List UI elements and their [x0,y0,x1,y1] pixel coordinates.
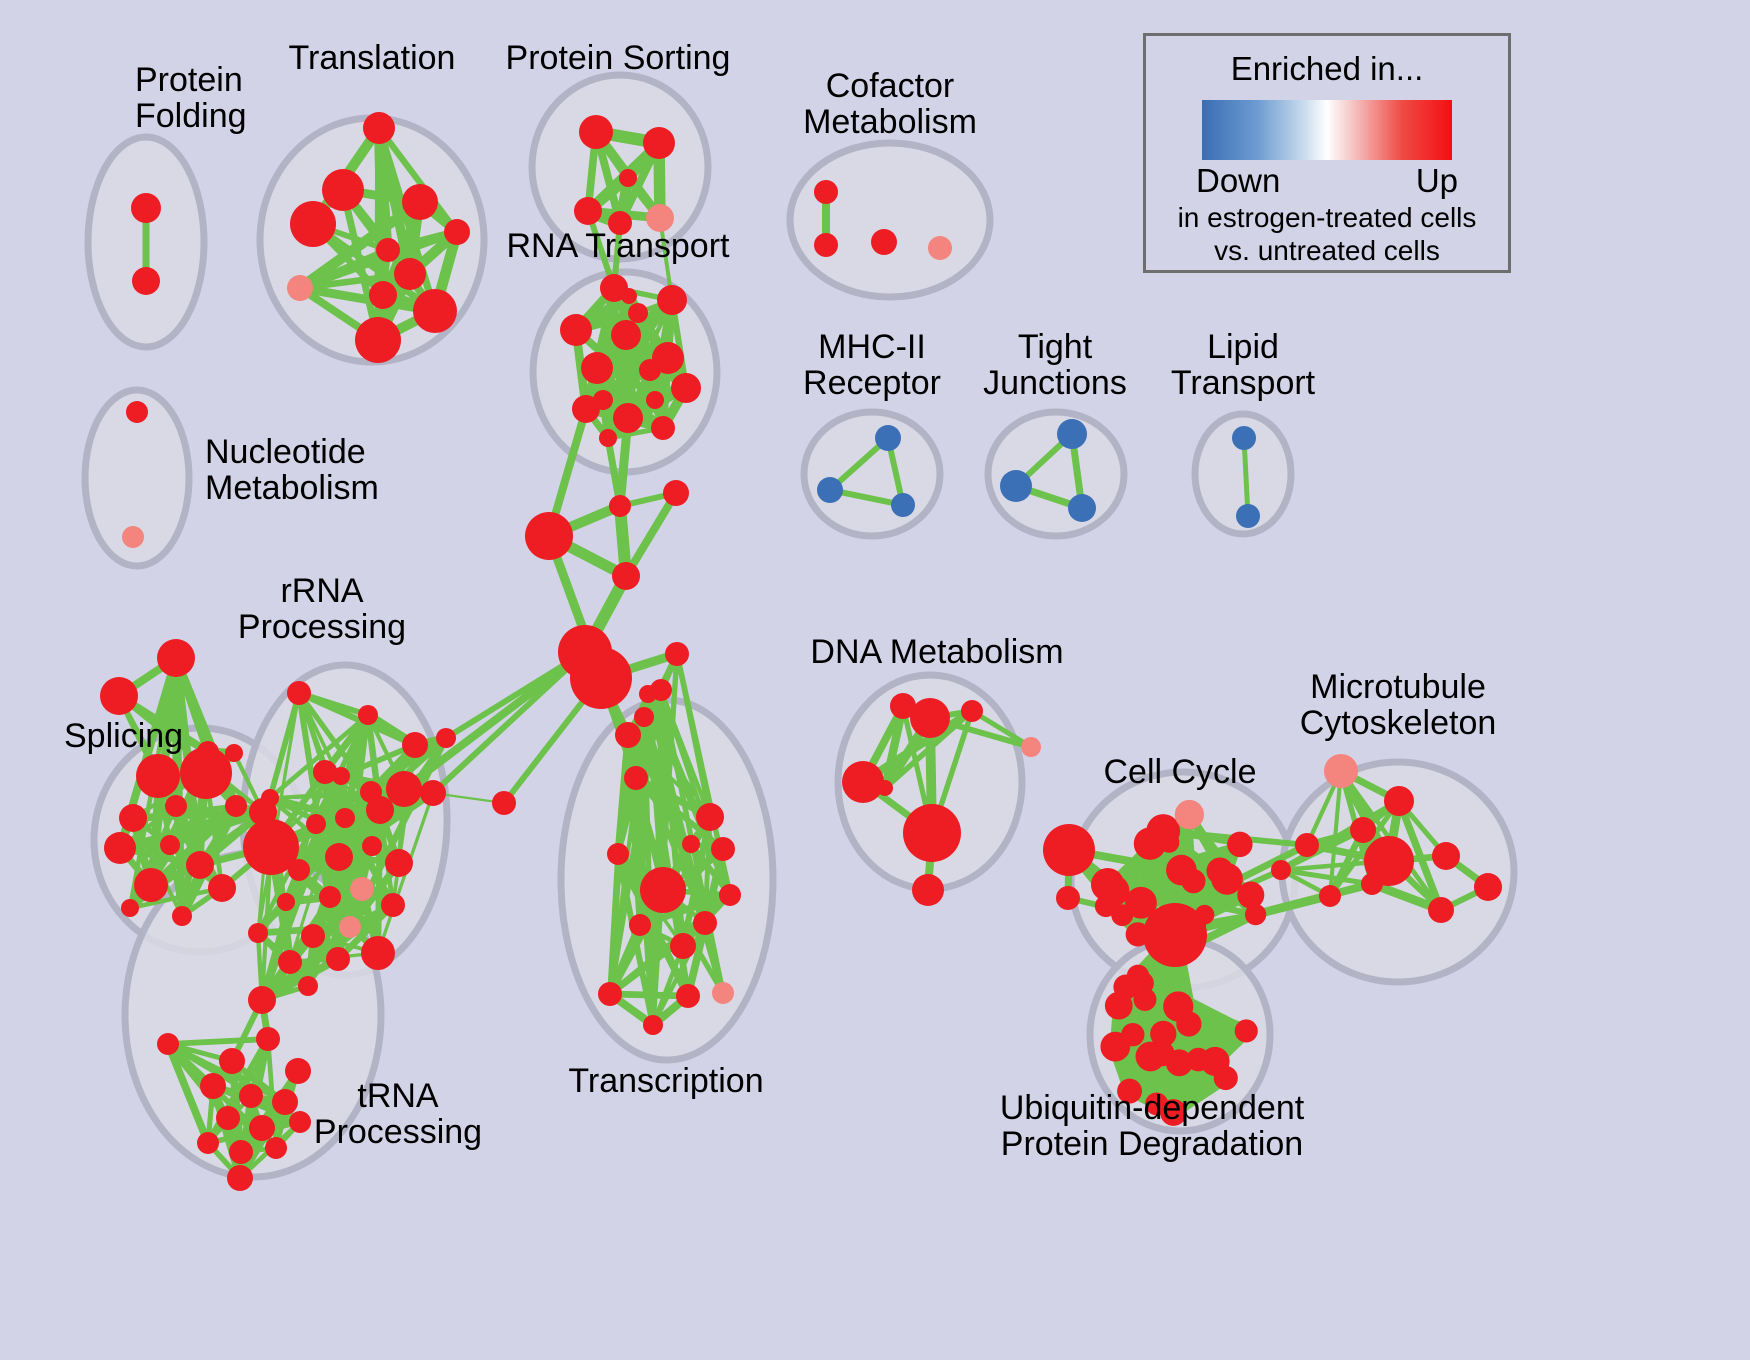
network-node[interactable] [306,814,326,834]
network-node[interactable] [1428,897,1454,923]
cluster-label-protein-folding: Protein Folding [135,62,247,134]
network-node[interactable] [1166,1049,1193,1076]
network-node[interactable] [1043,824,1095,876]
network-node[interactable] [639,685,657,703]
network-node[interactable] [402,184,438,220]
network-edge [433,652,585,793]
network-node[interactable] [265,1137,287,1159]
network-node[interactable] [362,836,382,856]
network-node[interactable] [376,238,400,262]
network-node[interactable] [1324,754,1358,788]
network-node[interactable] [1232,426,1256,450]
network-node[interactable] [912,874,944,906]
network-node[interactable] [261,789,279,807]
network-node[interactable] [607,843,629,865]
network-node[interactable] [131,193,161,223]
network-node[interactable] [1236,504,1260,528]
cluster-label-rrna-processing: rRNA Processing [238,573,406,645]
network-node[interactable] [619,169,637,187]
network-node[interactable] [814,233,838,257]
network-node[interactable] [132,267,160,295]
network-node[interactable] [612,562,640,590]
cluster-label-mhc-ii-receptor: MHC-II Receptor [803,329,941,401]
network-node[interactable] [574,197,602,225]
network-figure: Enriched in... Down Up in estrogen-treat… [0,0,1750,1360]
network-node[interactable] [122,526,144,548]
network-node[interactable] [381,893,405,917]
network-node[interactable] [665,642,689,666]
network-node[interactable] [326,947,350,971]
network-node[interactable] [1105,992,1133,1020]
network-node[interactable] [219,1048,245,1074]
network-node[interactable] [581,352,613,384]
cluster-label-microtubule: Microtubule Cytoskeleton [1300,669,1497,741]
network-node[interactable] [663,480,689,506]
network-node[interactable] [910,698,950,738]
network-node[interactable] [651,416,675,440]
network-node[interactable] [157,639,195,677]
network-node[interactable] [298,976,318,996]
network-node[interactable] [121,899,139,917]
network-node[interactable] [693,911,717,935]
network-node[interactable] [1206,857,1233,884]
legend-low-label: Down [1196,162,1280,200]
network-node[interactable] [239,1084,263,1108]
cluster-label-splicing: Splicing [64,718,183,754]
network-node[interactable] [643,1015,663,1035]
network-node[interactable] [136,754,180,798]
cluster-label-translation: Translation [289,40,456,76]
network-node[interactable] [814,180,838,204]
network-node[interactable] [1432,842,1460,870]
network-node[interactable] [104,832,136,864]
network-node[interactable] [1175,800,1204,829]
network-node[interactable] [186,851,214,879]
network-node[interactable] [525,512,573,560]
cofactor-hull [790,143,990,297]
network-node[interactable] [629,914,651,936]
network-node[interactable] [598,982,622,1006]
network-node[interactable] [394,258,426,290]
network-node[interactable] [335,808,355,828]
network-node[interactable] [1245,904,1266,925]
network-node[interactable] [413,289,457,333]
network-node[interactable] [197,1132,219,1154]
cluster-label-dna-metabolism: DNA Metabolism [810,634,1063,670]
network-node[interactable] [609,495,631,517]
network-node[interactable] [570,647,632,709]
legend-box: Enriched in... Down Up in estrogen-treat… [1143,33,1511,273]
cluster-label-lipid-transport: Lipid Transport [1171,329,1315,401]
network-node[interactable] [682,835,700,853]
network-node[interactable] [1214,1066,1238,1090]
network-node[interactable] [1237,882,1264,909]
network-node[interactable] [634,707,654,727]
network-node[interactable] [350,877,374,901]
legend-caption-line2: vs. untreated cells [1146,235,1508,266]
network-node[interactable] [817,477,843,503]
mhc-hull [804,412,940,536]
network-node[interactable] [657,285,687,315]
legend-caption-line1: in estrogen-treated cells [1146,202,1508,233]
network-node[interactable] [385,849,413,877]
network-node[interactable] [1235,1019,1258,1042]
network-node[interactable] [492,791,516,815]
network-node[interactable] [1474,873,1502,901]
network-node[interactable] [1021,737,1041,757]
network-node[interactable] [249,1115,275,1141]
network-node[interactable] [719,884,741,906]
network-node[interactable] [875,425,901,451]
network-node[interactable] [287,681,311,705]
network-node[interactable] [301,924,325,948]
legend-title: Enriched in... [1146,50,1508,88]
cluster-label-rna-transport: RNA Transport [507,228,730,264]
network-node[interactable] [1361,873,1383,895]
network-node[interactable] [363,112,395,144]
network-node[interactable] [319,886,341,908]
network-node[interactable] [420,780,446,806]
network-node[interactable] [877,780,893,796]
network-node[interactable] [1056,886,1080,910]
network-node[interactable] [157,1033,179,1055]
network-node[interactable] [676,984,700,1008]
network-node[interactable] [1121,1023,1144,1046]
network-node[interactable] [322,169,364,211]
network-node[interactable] [216,1106,240,1130]
network-node[interactable] [1150,1021,1176,1047]
network-node[interactable] [891,493,915,517]
network-node[interactable] [621,288,637,304]
network-node[interactable] [1095,895,1117,917]
color-scale-gradient [1202,100,1452,160]
network-node[interactable] [643,127,675,159]
network-node[interactable] [119,804,147,832]
network-node[interactable] [126,401,148,423]
network-node[interactable] [1319,885,1341,907]
network-node[interactable] [711,837,735,861]
network-node[interactable] [599,429,617,447]
network-node[interactable] [1166,855,1197,886]
network-node[interactable] [611,320,641,350]
network-node[interactable] [1159,832,1180,853]
network-node[interactable] [1350,817,1376,843]
network-node[interactable] [1227,832,1252,857]
cluster-label-protein-sorting: Protein Sorting [506,40,731,76]
cluster-label-nucleotide-metab: Nucleotide Metabolism [205,434,379,506]
network-node[interactable] [696,803,724,831]
cluster-label-ubiquitin: Ubiquitin-dependent Protein Degradation [1000,1090,1304,1162]
network-node[interactable] [639,359,661,381]
network-node[interactable] [361,936,395,970]
network-node[interactable] [444,219,470,245]
network-node[interactable] [1384,786,1414,816]
network-node[interactable] [248,986,276,1014]
network-node[interactable] [712,982,734,1004]
cluster-label-transcription: Transcription [568,1063,763,1099]
network-node[interactable] [903,804,961,862]
network-node[interactable] [579,115,613,149]
network-node[interactable] [165,795,187,817]
network-node[interactable] [229,1140,253,1164]
legend-high-label: Up [1416,162,1458,200]
network-node[interactable] [646,391,664,409]
cluster-label-cell-cycle: Cell Cycle [1103,754,1256,790]
network-node[interactable] [200,1073,226,1099]
network-node[interactable] [285,1058,311,1084]
network-node[interactable] [572,395,600,423]
network-node[interactable] [100,677,138,715]
network-node[interactable] [272,1089,298,1115]
network-node[interactable] [369,281,397,309]
network-node[interactable] [1143,903,1207,967]
network-node[interactable] [288,859,310,881]
network-node[interactable] [248,923,268,943]
network-node[interactable] [1068,494,1096,522]
network-node[interactable] [842,761,884,803]
cluster-label-trna-processing: tRNA Processing [314,1078,482,1150]
network-node[interactable] [871,229,897,255]
network-node[interactable] [339,916,361,938]
network-node[interactable] [1271,860,1291,880]
network-node[interactable] [436,728,456,748]
network-node[interactable] [1295,833,1319,857]
network-node[interactable] [325,843,353,871]
cluster-label-tight-junctions: Tight Junctions [983,329,1127,401]
network-node[interactable] [961,700,983,722]
network-node[interactable] [358,705,378,725]
network-node[interactable] [366,796,394,824]
network-node[interactable] [289,1111,311,1133]
network-node[interactable] [256,1027,280,1051]
network-node[interactable] [208,874,236,902]
network-node[interactable] [277,893,295,911]
network-node[interactable] [640,867,686,913]
network-node[interactable] [355,317,401,363]
network-node[interactable] [928,236,952,260]
network-node[interactable] [225,795,247,817]
network-node[interactable] [613,403,643,433]
network-node[interactable] [180,747,232,799]
network-node[interactable] [1000,470,1032,502]
network-node[interactable] [278,950,302,974]
network-node[interactable] [560,314,592,346]
network-node[interactable] [287,275,313,301]
network-node[interactable] [172,906,192,926]
network-node[interactable] [402,732,428,758]
network-edge [404,652,585,789]
network-node[interactable] [160,835,180,855]
network-node[interactable] [615,722,641,748]
network-node[interactable] [332,767,350,785]
network-node[interactable] [671,373,701,403]
network-node[interactable] [134,868,168,902]
network-node[interactable] [1057,419,1087,449]
network-node[interactable] [670,933,696,959]
network-node[interactable] [1130,971,1154,995]
network-node[interactable] [290,201,336,247]
cluster-label-cofactor-metab: Cofactor Metabolism [803,68,977,140]
network-node[interactable] [624,766,648,790]
network-node[interactable] [1176,1011,1201,1036]
network-node[interactable] [628,303,648,323]
network-node[interactable] [227,1165,253,1191]
network-node[interactable] [386,771,422,807]
